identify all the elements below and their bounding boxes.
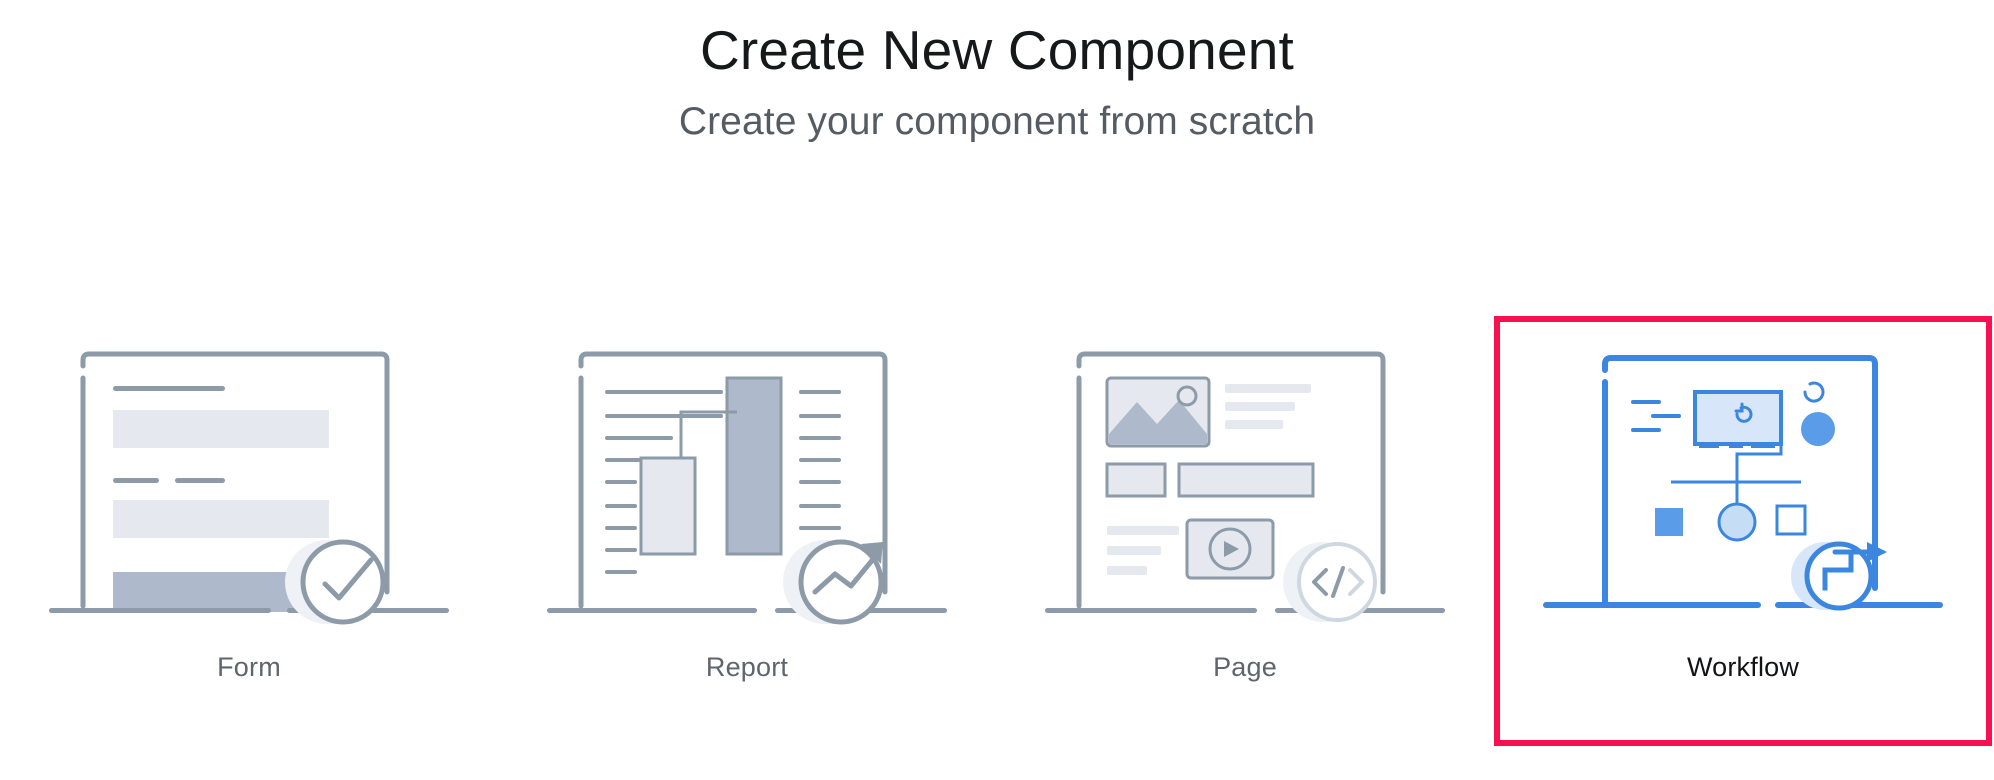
page-title: Create New Component [0, 18, 1994, 83]
component-card-label-form: Form [217, 652, 281, 683]
component-card-label-workflow: Workflow [1687, 652, 1799, 683]
component-type-card-row: Form [0, 316, 1994, 780]
code-brackets-badge-icon [1283, 542, 1375, 622]
checkmark-badge-icon [285, 540, 383, 624]
component-card-label-report: Report [706, 652, 788, 683]
page-header: Create New Component Create your compone… [0, 0, 1994, 146]
component-card-page[interactable]: Page [996, 316, 1494, 746]
component-card-label-page: Page [1213, 652, 1277, 683]
component-card-report[interactable]: Report [498, 316, 996, 746]
component-card-workflow[interactable]: Workflow [1494, 316, 1992, 746]
page-subtitle: Create your component from scratch [0, 99, 1994, 146]
create-component-screen: Create New Component Create your compone… [0, 0, 1994, 780]
trending-up-badge-icon [783, 540, 883, 624]
form-document-icon [49, 330, 449, 630]
process-arrow-badge-icon [1791, 542, 1887, 610]
page-layout-document-icon [1045, 330, 1445, 630]
report-chart-document-icon [547, 330, 947, 630]
component-card-form[interactable]: Form [0, 316, 498, 746]
workflow-diagram-icon [1543, 330, 1943, 630]
